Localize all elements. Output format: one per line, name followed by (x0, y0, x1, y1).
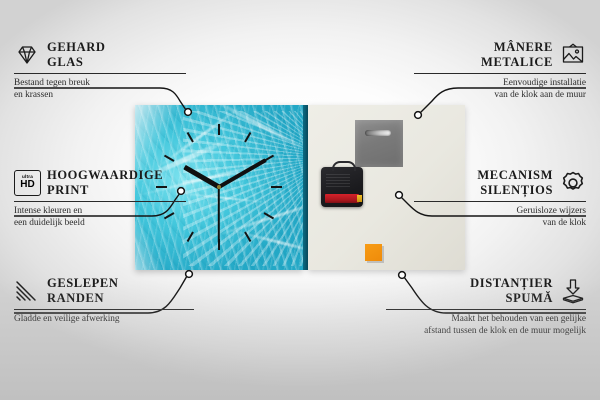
feature-hoogwaardige-print[interactable]: ultra HD HOOGWAARDIGE PRINT Intense kleu… (14, 168, 186, 229)
movement-vents (326, 174, 350, 188)
clock-tick (244, 132, 251, 143)
divider (14, 201, 186, 202)
metal-hanger-plate (355, 120, 403, 167)
feature-mecanism-silentios[interactable]: MECANISM SILENȚIOS Geruisloze wijzers va… (414, 168, 586, 229)
clock-tick (244, 232, 251, 243)
quartz-movement-box (321, 167, 363, 207)
diamond-icon (14, 42, 40, 68)
feature-header: ultra HD HOOGWAARDIGE PRINT (14, 168, 186, 198)
feature-title: GEHARD GLAS (47, 40, 105, 70)
spacer-arrow-icon (560, 278, 586, 304)
gear-icon (560, 170, 586, 196)
clock-tick (271, 186, 282, 188)
feature-manere-metalice[interactable]: MÂNERE METALICE Eenvoudige installatie v… (414, 40, 586, 101)
feature-header: MECANISM SILENȚIOS (414, 168, 586, 198)
feature-header: MÂNERE METALICE (414, 40, 586, 70)
clock-hour-hand (183, 165, 220, 189)
foam-spacer-pad (365, 244, 382, 261)
divider (414, 201, 586, 202)
feature-geslepen-randen[interactable]: GESLEPEN RANDEN Gladde en veilige afwerk… (14, 276, 194, 325)
beveled-edge-icon (14, 278, 40, 304)
clock-pivot (217, 185, 221, 189)
clock-tick (164, 155, 175, 162)
clock-tick (187, 132, 194, 143)
feature-distantier-spuma[interactable]: DISTANȚIER SPUMĂ Maakt het behouden van … (386, 276, 586, 337)
picture-frame-icon (560, 42, 586, 68)
ultra-hd-icon: ultra HD (14, 170, 40, 196)
divider (414, 73, 586, 74)
feature-header: DISTANȚIER SPUMĂ (386, 276, 586, 306)
feature-title: MECANISM SILENȚIOS (477, 168, 553, 198)
movement-hook (332, 161, 356, 171)
clock-tick (187, 232, 194, 243)
feature-header: GEHARD GLAS (14, 40, 186, 70)
feature-header: GESLEPEN RANDEN (14, 276, 194, 306)
aa-battery (325, 194, 359, 203)
feature-title: MÂNERE METALICE (481, 40, 553, 70)
feature-title: HOOGWAARDIGE PRINT (47, 168, 163, 198)
feature-title: DISTANȚIER SPUMĂ (470, 276, 553, 306)
feature-title: GESLEPEN RANDEN (47, 276, 119, 306)
clock-tick (218, 124, 220, 135)
divider (386, 309, 586, 310)
infographic-canvas: GEHARD GLAS Bestand tegen breuk en krass… (0, 0, 600, 400)
feature-gehard-glas[interactable]: GEHARD GLAS Bestand tegen breuk en krass… (14, 40, 186, 101)
clock-tick (264, 212, 275, 219)
divider (14, 309, 194, 310)
clock-minute-hand (218, 158, 267, 188)
clock-second-hand (218, 187, 220, 243)
hanger-slot (365, 130, 391, 136)
divider (14, 73, 186, 74)
